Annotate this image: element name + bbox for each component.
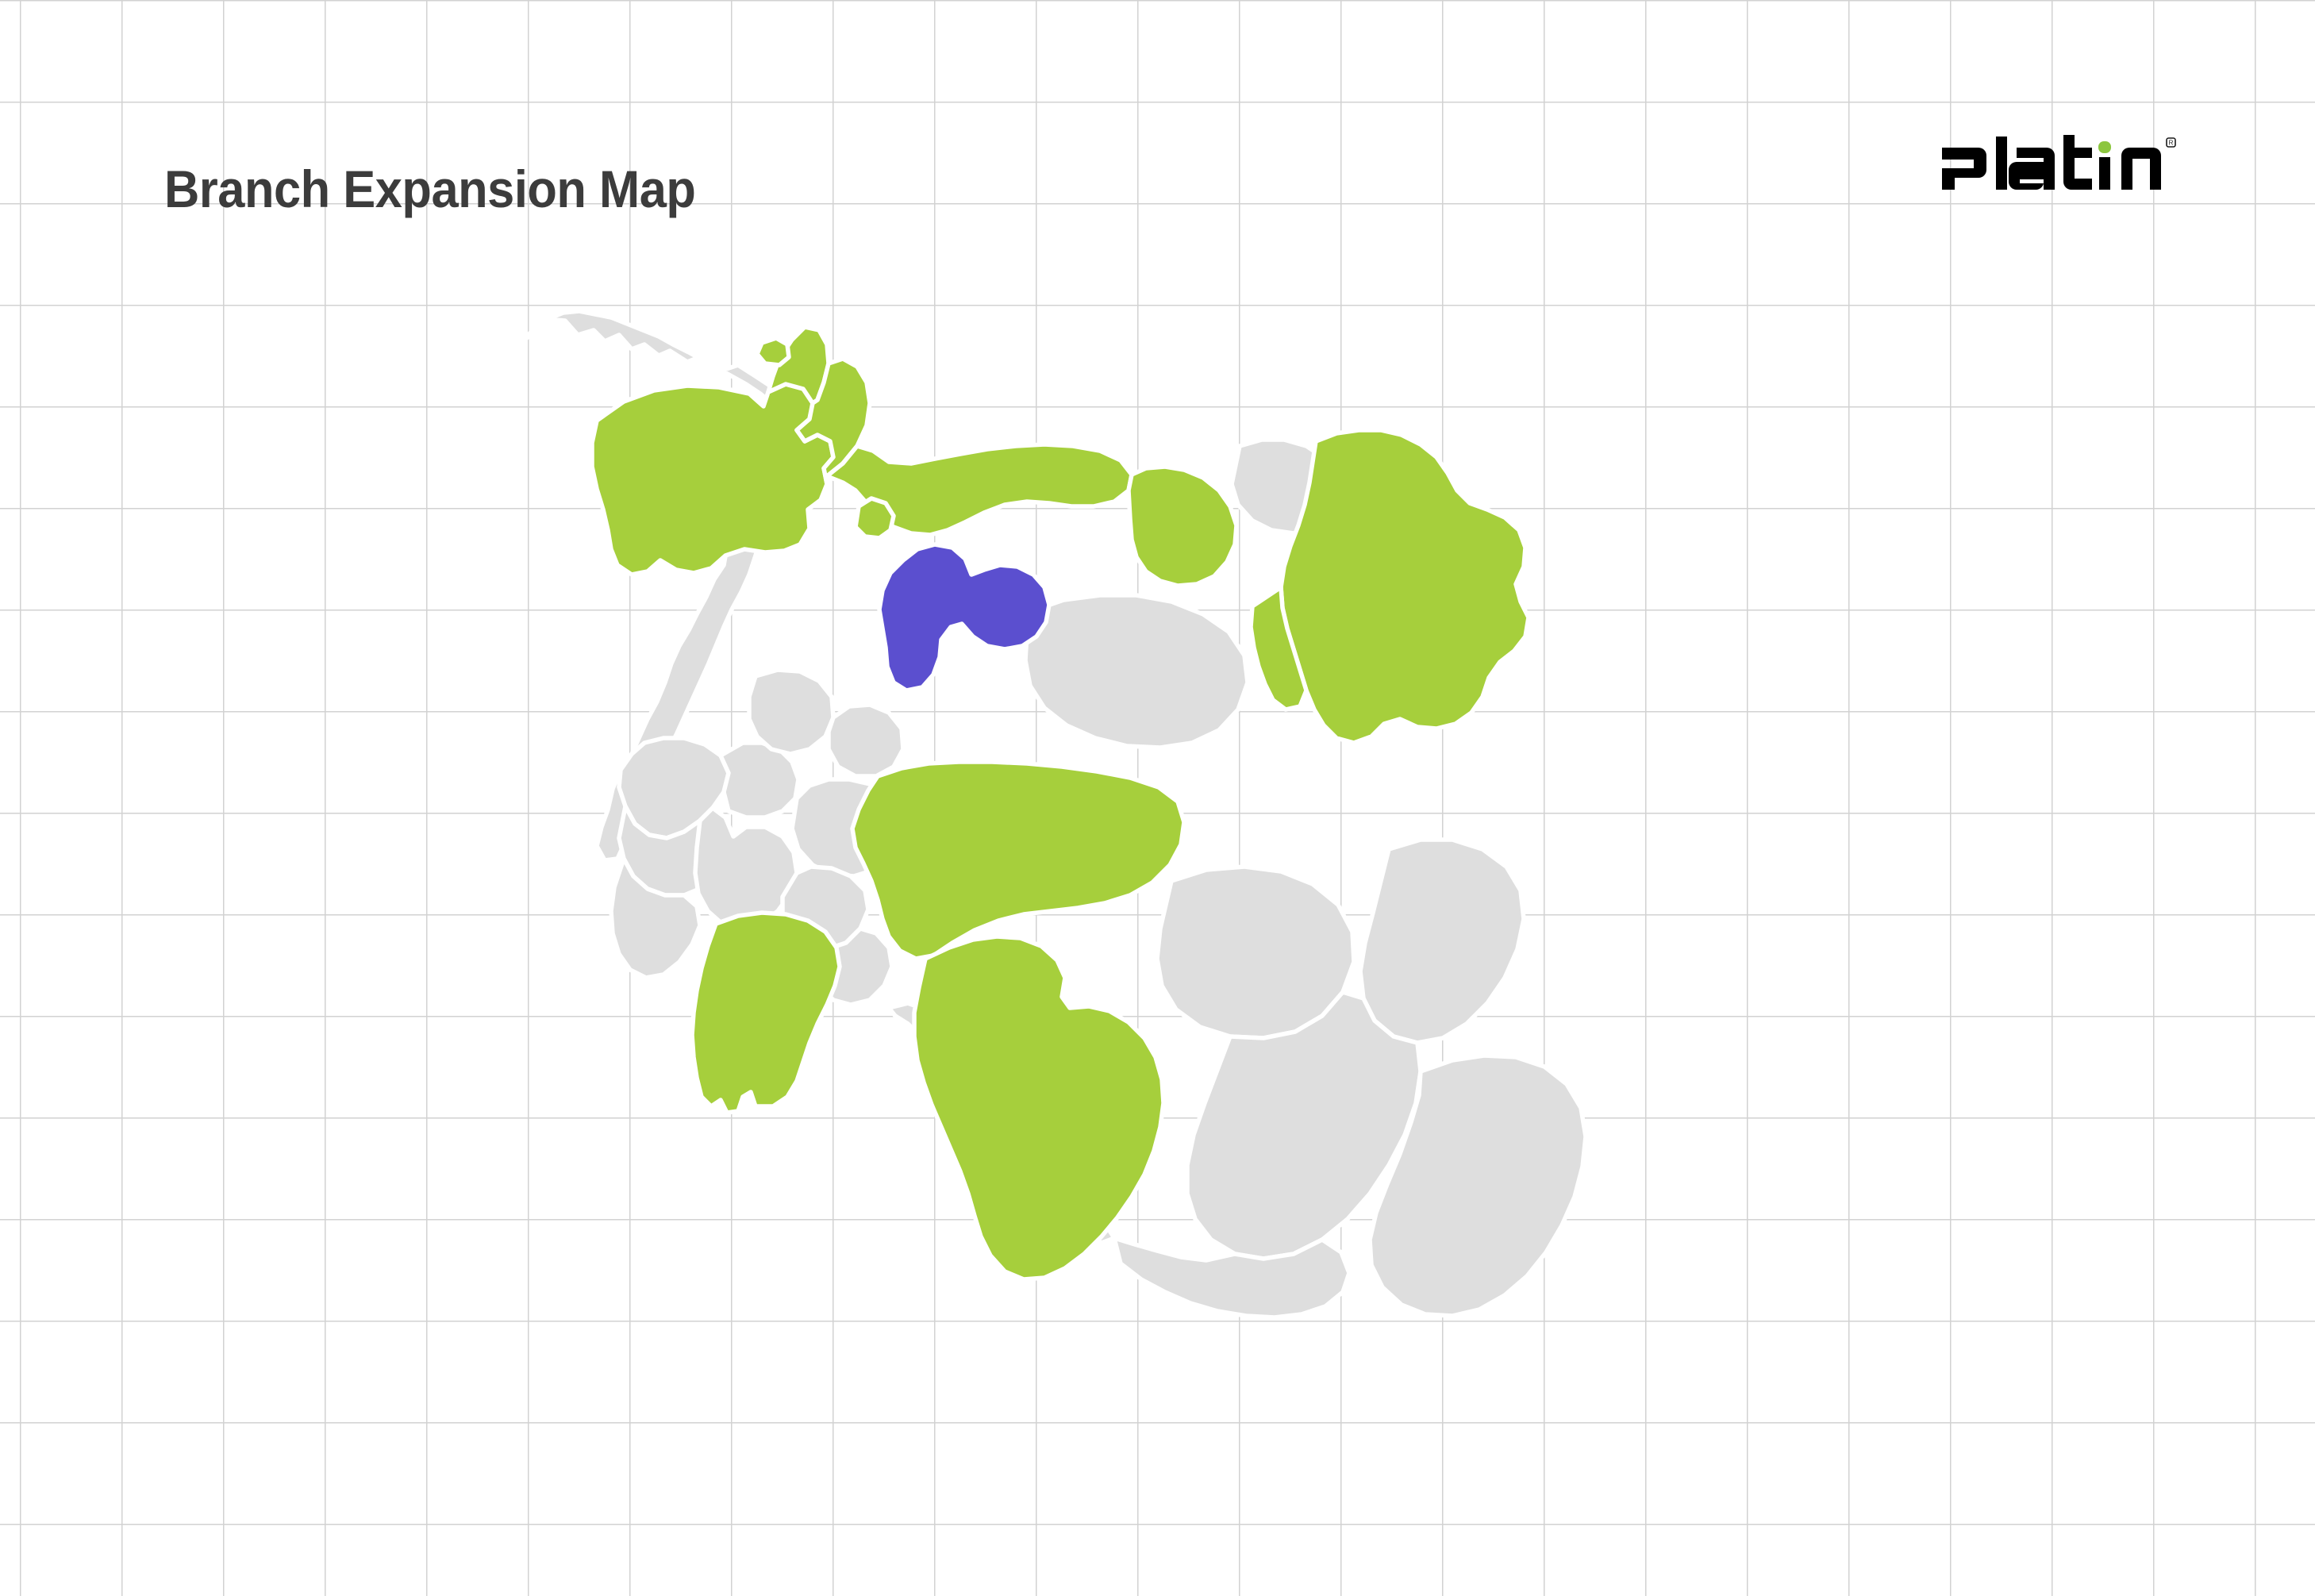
region-razavi-khorasan[interactable] [1281, 430, 1529, 743]
iran-province-map [476, 294, 1809, 1516]
brand-logo: R [1940, 133, 2178, 202]
platin-wordmark-glyphs [1942, 135, 2161, 190]
region-golestan[interactable] [1129, 467, 1236, 586]
region-semnan[interactable] [1025, 595, 1248, 748]
region-isfahan[interactable] [852, 762, 1184, 959]
region-khuzestan[interactable] [692, 913, 840, 1113]
region-east-azerbaijan[interactable] [592, 384, 833, 575]
region-azerbaijan-spur[interactable] [757, 338, 789, 365]
region-fars[interactable] [914, 936, 1163, 1279]
page-title: Branch Expansion Map [164, 159, 695, 219]
region-zanjan[interactable] [749, 670, 833, 754]
region-tehran-alborz[interactable] [879, 544, 1049, 690]
registered-trademark-glyph: R [2169, 140, 2174, 147]
region-mazandaran-notch[interactable] [856, 498, 894, 538]
region-south-khorasan[interactable] [1360, 840, 1524, 1043]
region-qazvin[interactable] [829, 705, 903, 776]
logo-dot-icon [2098, 141, 2111, 153]
